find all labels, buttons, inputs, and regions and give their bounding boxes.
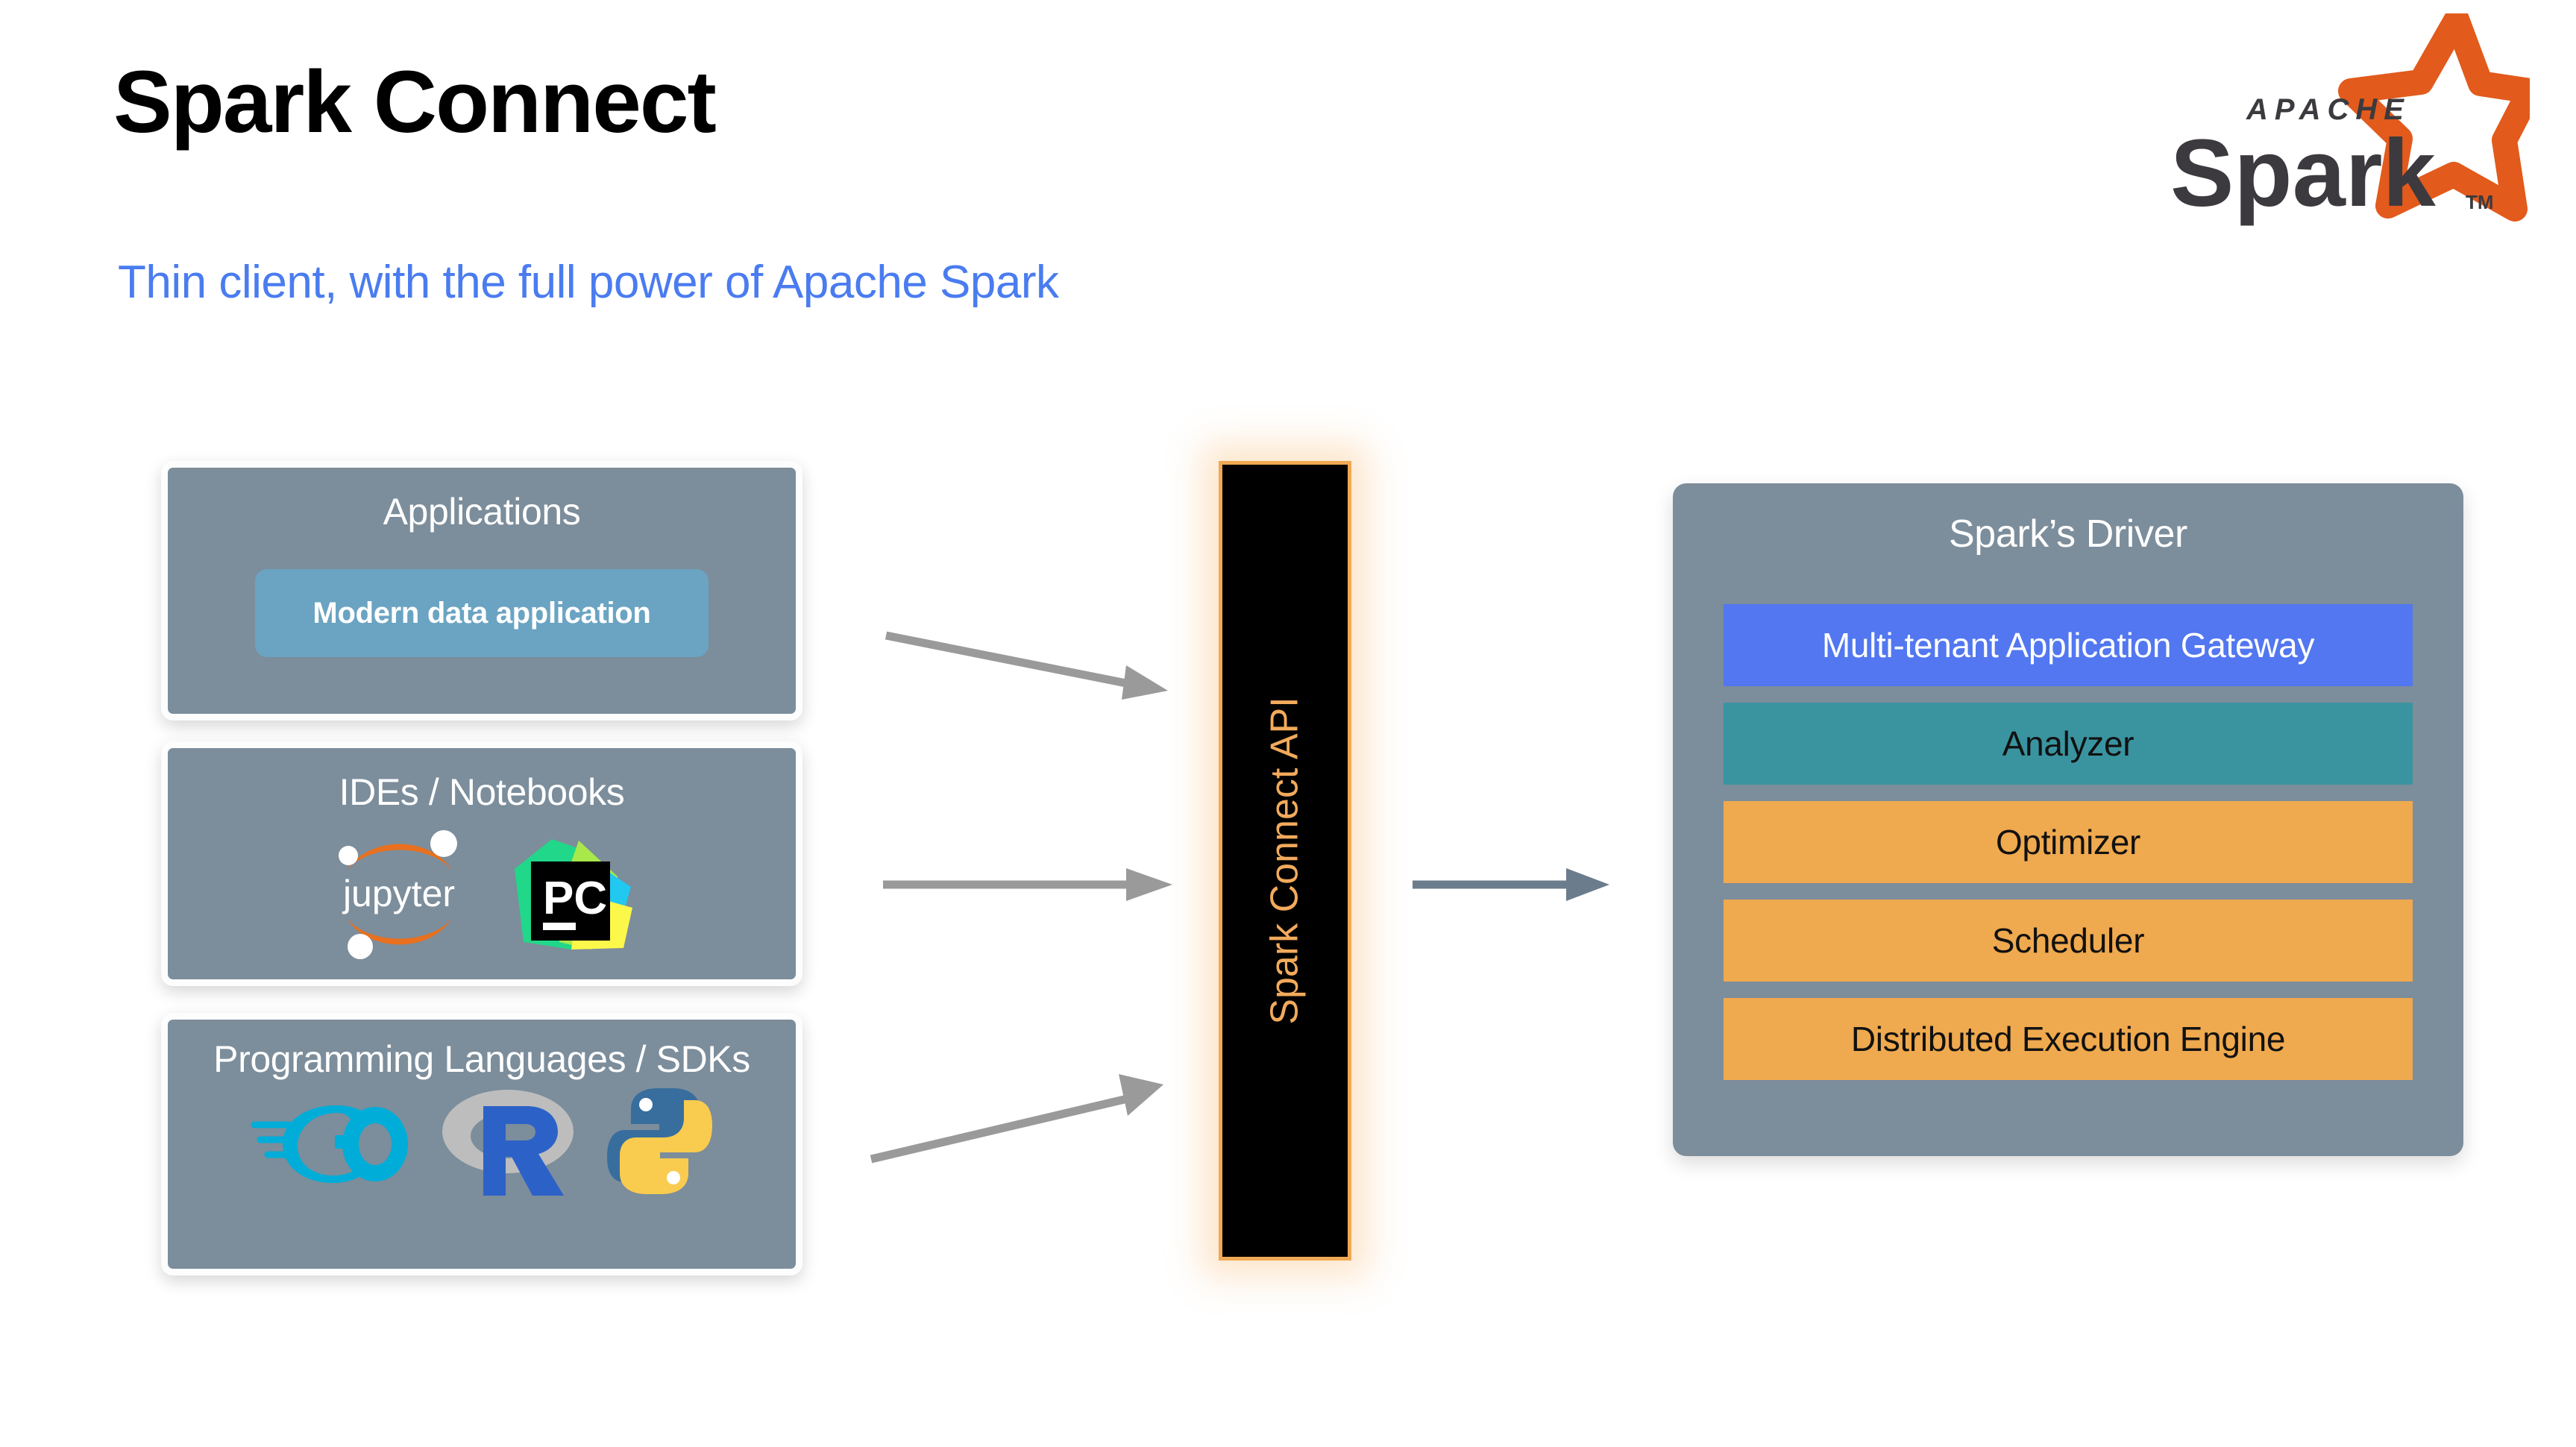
go-logo: [250, 1096, 410, 1190]
languages-logo-row: [250, 1085, 714, 1201]
spark-driver-title: Spark’s Driver: [1673, 512, 2463, 556]
client-card-ides-notebooks[interactable]: IDEs / Notebooks jupyter: [161, 741, 802, 986]
ides-logo-row: jupyter PC: [330, 824, 634, 966]
svg-text:PC: PC: [543, 873, 607, 924]
driver-row-analyzer[interactable]: Analyzer: [1724, 703, 2413, 785]
spark-driver-rows: Multi-tenant Application GatewayAnalyzer…: [1724, 604, 2413, 1080]
driver-row-distributed-execution-engine[interactable]: Distributed Execution Engine: [1724, 998, 2413, 1080]
pycharm-logo: PC: [507, 830, 634, 961]
driver-row-optimizer[interactable]: Optimizer: [1724, 801, 2413, 883]
modern-data-application-pill[interactable]: Modern data application: [255, 569, 709, 657]
card-title-languages-sdks: Programming Languages / SDKs: [213, 1038, 750, 1081]
jupyter-logo: jupyter: [330, 824, 468, 966]
page-subtitle: Thin client, with the full power of Apac…: [118, 260, 1058, 306]
client-card-applications[interactable]: Applications Modern data application: [161, 461, 802, 721]
apache-spark-logo: APACHE Spark TM: [2164, 13, 2530, 230]
client-card-languages-sdks[interactable]: Programming Languages / SDKs: [161, 1013, 802, 1275]
page-title: Spark Connect: [113, 58, 715, 146]
slide-canvas: Spark Connect Thin client, with the full…: [0, 0, 2576, 1447]
driver-row-multi-tenant-application-gateway[interactable]: Multi-tenant Application Gateway: [1724, 604, 2413, 686]
arrow-applications-to-api: [880, 619, 1193, 723]
r-logo: [437, 1085, 579, 1201]
spark-connect-api-label: Spark Connect API: [1263, 697, 1307, 1024]
card-title-applications: Applications: [383, 490, 581, 533]
svg-text:Spark: Spark: [2170, 120, 2437, 227]
card-title-ides-notebooks: IDEs / Notebooks: [339, 770, 625, 814]
spark-connect-api-bar[interactable]: Spark Connect API: [1219, 461, 1351, 1261]
arrow-api-to-driver: [1410, 858, 1626, 910]
arrow-languages-to-api: [865, 1059, 1193, 1171]
arrow-ides-to-api: [880, 858, 1193, 910]
svg-text:jupyter: jupyter: [341, 873, 454, 914]
spark-driver-panel: Spark’s Driver Multi-tenant Application …: [1673, 483, 2463, 1156]
python-logo: [606, 1085, 714, 1201]
driver-row-scheduler[interactable]: Scheduler: [1724, 900, 2413, 982]
svg-text:TM: TM: [2466, 191, 2494, 213]
